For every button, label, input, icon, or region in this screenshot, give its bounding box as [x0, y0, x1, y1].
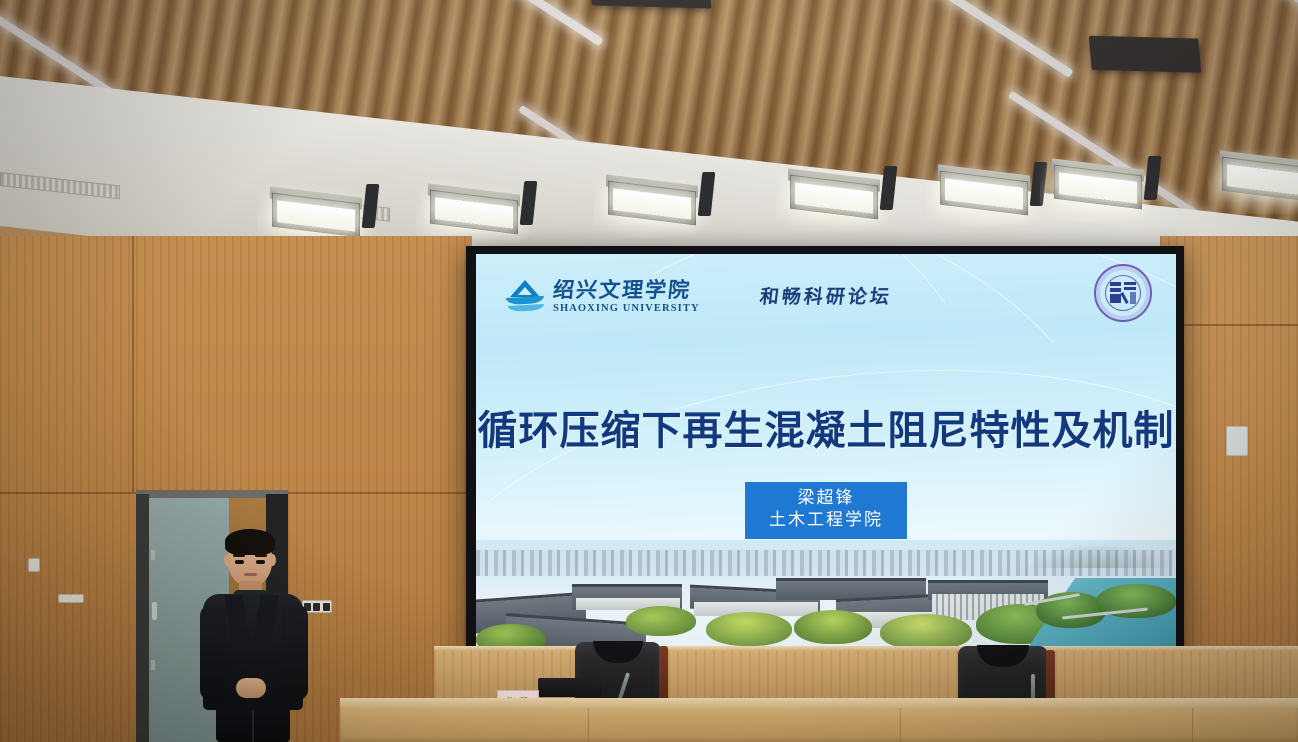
door-hinge	[151, 660, 155, 670]
wall-data-plate[interactable]	[58, 594, 84, 603]
university-seal-icon	[1094, 264, 1152, 322]
standing-presenter	[198, 532, 308, 742]
stage-floodlight	[1222, 152, 1298, 204]
presenter-hair	[225, 529, 275, 555]
stage-floodlight	[790, 170, 886, 222]
door-hinge	[151, 550, 155, 560]
presenter-box: 梁超锋 土木工程学院	[745, 482, 907, 539]
door-jamb-left	[136, 494, 149, 742]
ceiling-led-strip	[778, 0, 1074, 78]
ceiling-led-strip	[1218, 0, 1298, 88]
ceiling-led-strip	[308, 0, 604, 46]
wall-access-panel[interactable]	[1226, 426, 1248, 456]
stage-floodlight	[430, 185, 526, 237]
stage-floodlight	[272, 188, 368, 240]
slide-main-title: 循环压缩下再生混凝土阻尼特性及机制	[476, 398, 1176, 456]
wall-switch-plate[interactable]	[28, 558, 40, 572]
campus-aerial-photo	[476, 540, 1176, 652]
stage-floodlight	[608, 176, 704, 228]
presenter-affiliation: 土木工程学院	[769, 509, 883, 531]
presenter-name: 梁超锋	[769, 487, 883, 509]
led-video-wall[interactable]: 绍兴文理学院 SHAOXING UNIVERSITY 和畅科研论坛	[466, 246, 1184, 658]
presentation-slide: 绍兴文理学院 SHAOXING UNIVERSITY 和畅科研论坛	[476, 254, 1176, 652]
speaker-desk	[340, 698, 1298, 742]
door-handle[interactable]	[152, 602, 157, 620]
lecture-hall-scene: 绍兴文理学院 SHAOXING UNIVERSITY 和畅科研论坛	[0, 0, 1298, 742]
ceiling-speaker-icon	[1089, 36, 1202, 73]
presenter-hands	[236, 678, 266, 698]
stage-floodlight	[1054, 160, 1150, 212]
wall-panel-seam	[132, 236, 134, 492]
air-vent-grille	[0, 172, 120, 199]
forum-title: 和畅科研论坛	[476, 282, 1176, 309]
ceiling-speaker-icon	[588, 0, 711, 9]
stage-floodlight	[940, 166, 1036, 218]
